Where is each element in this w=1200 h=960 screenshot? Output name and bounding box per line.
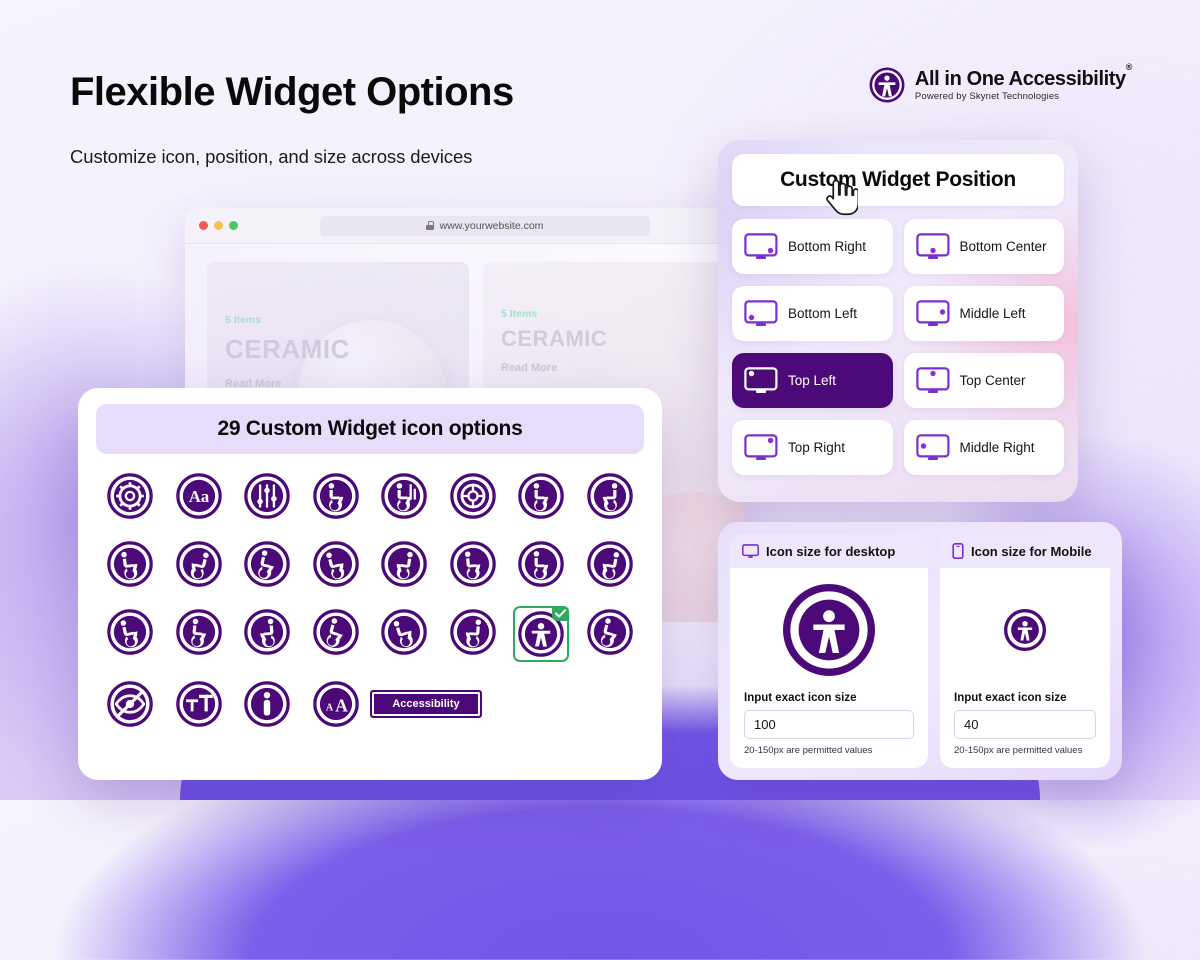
icon-glyph bbox=[244, 541, 290, 587]
icon-option-sliders-settings-icon[interactable] bbox=[241, 470, 293, 522]
icon-glyph bbox=[381, 473, 427, 519]
icon-option-font-size-aa-icon[interactable]: AA bbox=[310, 678, 362, 730]
icon-option-wheelchair-variant-3-icon[interactable] bbox=[241, 538, 293, 590]
position-option-top-left[interactable]: Top Left bbox=[732, 353, 893, 408]
icon-options-grid: AaAAAccessibility bbox=[96, 470, 644, 730]
position-option-label: Top Left bbox=[788, 373, 836, 388]
icon-option-text-resize-tt-icon[interactable] bbox=[173, 678, 225, 730]
icon-option-wheelchair-person-icon[interactable] bbox=[515, 470, 567, 522]
icon-option-wheelchair-variant-6-icon[interactable] bbox=[447, 538, 499, 590]
mobile-card-header-label: Icon size for Mobile bbox=[971, 544, 1092, 559]
icon-glyph bbox=[381, 609, 427, 655]
brand-logo: All in One Accessibility® Powered by Sky… bbox=[868, 66, 1132, 104]
brand-name-text: All in One Accessibility bbox=[915, 68, 1126, 90]
mobile-card-header: Icon size for Mobile bbox=[940, 534, 1110, 568]
icon-option-accessibility-person-icon[interactable] bbox=[513, 606, 569, 662]
icon-option-wheelchair-variant-11-icon[interactable] bbox=[241, 606, 293, 658]
position-option-top-right[interactable]: Top Right bbox=[732, 420, 893, 475]
icon-glyph bbox=[450, 609, 496, 655]
address-bar[interactable]: www.yourwebsite.com bbox=[320, 216, 650, 236]
registered-mark: ® bbox=[1126, 62, 1132, 72]
icon-glyph bbox=[313, 473, 359, 519]
icon-option-wheelchair-variant-9-icon[interactable] bbox=[104, 606, 156, 658]
accessibility-person-icon bbox=[783, 584, 875, 676]
monitor-icon bbox=[916, 434, 950, 461]
position-option-middle-left[interactable]: Middle Left bbox=[904, 286, 1065, 341]
icon-glyph bbox=[587, 473, 633, 519]
accessibility-button-label: Accessibility bbox=[392, 698, 459, 710]
desktop-monitor-icon bbox=[742, 544, 759, 559]
mobile-size-input-group[interactable]: PX bbox=[954, 710, 1096, 739]
position-options-grid: Bottom RightBottom CenterBottom LeftMidd… bbox=[732, 219, 1064, 475]
lock-icon bbox=[426, 221, 434, 230]
icon-option-wheelchair-variant-8-icon[interactable] bbox=[584, 538, 636, 590]
icon-glyph bbox=[587, 609, 633, 655]
icon-option-life-ring-icon[interactable] bbox=[447, 470, 499, 522]
icon-glyph bbox=[107, 609, 153, 655]
icon-glyph bbox=[518, 473, 564, 519]
icon-glyph bbox=[313, 541, 359, 587]
monitor-icon bbox=[916, 300, 950, 327]
desktop-icon-preview bbox=[730, 568, 928, 692]
icon-glyph bbox=[244, 609, 290, 655]
icon-option-eye-slash-icon[interactable] bbox=[104, 678, 156, 730]
icon-option-wheelchair-variant-12-icon[interactable] bbox=[310, 606, 362, 658]
position-option-bottom-center[interactable]: Bottom Center bbox=[904, 219, 1065, 274]
icon-glyph bbox=[176, 681, 222, 727]
icon-option-wheelchair-active-icon[interactable] bbox=[447, 606, 499, 658]
icon-glyph bbox=[587, 541, 633, 587]
desktop-card-header: Icon size for desktop bbox=[730, 534, 928, 568]
icon-size-panel: Icon size for desktop Input exact icon s… bbox=[718, 522, 1122, 780]
icon-option-wheelchair-variant-1-icon[interactable] bbox=[104, 538, 156, 590]
icon-size-desktop-card: Icon size for desktop Input exact icon s… bbox=[730, 534, 928, 768]
icon-glyph bbox=[450, 541, 496, 587]
icon-glyph bbox=[381, 541, 427, 587]
mobile-icon-preview bbox=[940, 568, 1110, 692]
icon-options-title: 29 Custom Widget icon options bbox=[96, 404, 644, 454]
icon-glyph bbox=[176, 609, 222, 655]
icon-option-gear-accessibility-icon[interactable] bbox=[104, 470, 156, 522]
mobile-size-hint: 20-150px are permitted values bbox=[954, 745, 1096, 756]
monitor-icon bbox=[916, 367, 950, 394]
browser-toolbar: www.yourwebsite.com bbox=[185, 208, 745, 244]
icon-glyph: AA bbox=[313, 681, 359, 727]
monitor-icon bbox=[744, 233, 778, 260]
svg-text:Aa: Aa bbox=[189, 487, 210, 506]
desktop-size-hint: 20-150px are permitted values bbox=[744, 745, 914, 756]
position-option-bottom-right[interactable]: Bottom Right bbox=[732, 219, 893, 274]
monitor-icon bbox=[744, 434, 778, 461]
mobile-phone-icon bbox=[952, 543, 964, 559]
minimize-icon bbox=[214, 221, 223, 230]
icon-glyph bbox=[244, 473, 290, 519]
icon-glyph: Aa bbox=[176, 473, 222, 519]
svg-text:A: A bbox=[335, 695, 348, 715]
icon-glyph bbox=[518, 541, 564, 587]
icon-option-text-size-aa-icon[interactable]: Aa bbox=[173, 470, 225, 522]
desktop-size-input-group[interactable]: PX bbox=[744, 710, 914, 739]
icon-option-wheelchair-variant-5-icon[interactable] bbox=[378, 538, 430, 590]
position-option-label: Bottom Left bbox=[788, 306, 857, 321]
custom-widget-icon-options-panel: 29 Custom Widget icon options AaAAAccess… bbox=[78, 388, 662, 780]
icon-option-wheelchair-motion-icon[interactable] bbox=[310, 470, 362, 522]
traffic-lights bbox=[199, 221, 238, 230]
icon-option-wheelchair-outline-icon[interactable] bbox=[584, 470, 636, 522]
icon-option-person-standing-icon[interactable] bbox=[241, 678, 293, 730]
brand-name: All in One Accessibility® bbox=[915, 69, 1132, 90]
custom-widget-position-panel: Custom Widget Position Bottom RightBotto… bbox=[718, 140, 1078, 502]
icon-glyph bbox=[450, 473, 496, 519]
icon-option-wheelchair-variant-7-icon[interactable] bbox=[515, 538, 567, 590]
position-option-top-center[interactable]: Top Center bbox=[904, 353, 1065, 408]
position-option-bottom-left[interactable]: Bottom Left bbox=[732, 286, 893, 341]
position-option-label: Bottom Right bbox=[788, 239, 866, 254]
monitor-icon bbox=[744, 367, 778, 394]
mobile-size-input[interactable] bbox=[955, 711, 1096, 738]
position-option-label: Top Center bbox=[960, 373, 1026, 388]
check-icon bbox=[552, 606, 569, 621]
icon-glyph bbox=[313, 609, 359, 655]
desktop-size-input[interactable] bbox=[745, 711, 914, 738]
monitor-icon bbox=[916, 233, 950, 260]
desktop-card-header-label: Icon size for desktop bbox=[766, 544, 895, 559]
mobile-input-label: Input exact icon size bbox=[954, 692, 1096, 704]
svg-text:A: A bbox=[326, 702, 334, 713]
icon-option-wheelchair-chart-icon[interactable] bbox=[378, 470, 430, 522]
icon-glyph bbox=[176, 541, 222, 587]
icon-option-wheelchair-variant-10-icon[interactable] bbox=[173, 606, 225, 658]
page-title: Flexible Widget Options bbox=[70, 70, 514, 115]
page-subtitle: Customize icon, position, and size acros… bbox=[70, 146, 472, 168]
accessibility-person-icon bbox=[1004, 609, 1046, 651]
icon-option-wheelchair-variant-4-icon[interactable] bbox=[310, 538, 362, 590]
close-icon bbox=[199, 221, 208, 230]
icon-size-mobile-card: Icon size for Mobile Input exact icon si… bbox=[940, 534, 1110, 768]
address-bar-url: www.yourwebsite.com bbox=[440, 220, 544, 232]
icon-option-wheelchair-variant-14-icon[interactable] bbox=[584, 606, 636, 658]
icon-option-wheelchair-variant-2-icon[interactable] bbox=[173, 538, 225, 590]
icon-glyph bbox=[107, 473, 153, 519]
maximize-icon bbox=[229, 221, 238, 230]
accessibility-person-icon bbox=[868, 66, 906, 104]
icon-glyph bbox=[244, 681, 290, 727]
brand-tagline: Powered by Skynet Technologies bbox=[915, 92, 1132, 102]
position-option-middle-right[interactable]: Middle Right bbox=[904, 420, 1065, 475]
position-option-label: Middle Left bbox=[960, 306, 1026, 321]
icon-glyph bbox=[107, 541, 153, 587]
position-option-label: Middle Right bbox=[960, 440, 1035, 455]
accessibility-button[interactable]: Accessibility bbox=[370, 690, 482, 718]
icon-option-wheelchair-variant-13-icon[interactable] bbox=[378, 606, 430, 658]
position-option-label: Top Right bbox=[788, 440, 845, 455]
icon-glyph bbox=[107, 681, 153, 727]
position-option-label: Bottom Center bbox=[960, 239, 1047, 254]
desktop-input-label: Input exact icon size bbox=[744, 692, 914, 704]
position-panel-title: Custom Widget Position bbox=[732, 154, 1064, 206]
monitor-icon bbox=[744, 300, 778, 327]
